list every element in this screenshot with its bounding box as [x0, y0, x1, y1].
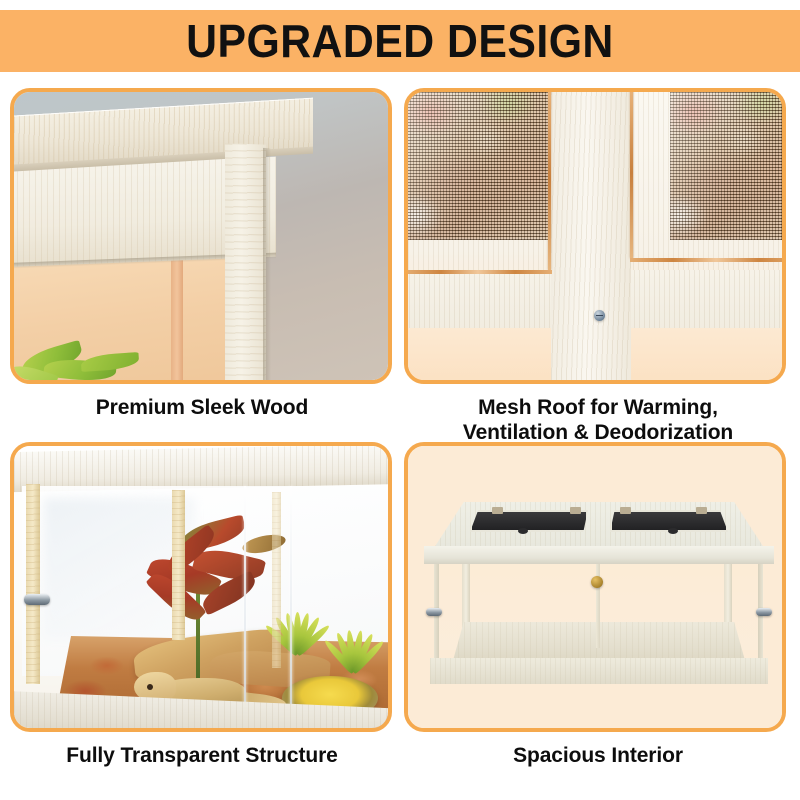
hinge-icon: [620, 507, 631, 514]
wood-corner-post: [172, 490, 185, 640]
infographic-page: UPGRADED DESIGN: [0, 0, 800, 800]
mesh-frame-edge-horizontal: [408, 270, 552, 274]
mesh-frame-edge-horizontal: [630, 258, 782, 262]
side-handle-right: [756, 608, 772, 616]
mesh-screen-right: [670, 92, 782, 240]
roof-knob-icon: [668, 528, 678, 534]
wood-back-post: [272, 492, 281, 668]
wood-corner-post-shadow: [263, 148, 271, 380]
mesh-screen-left: [408, 92, 548, 240]
panel-caption-spacious-interior: Spacious Interior: [402, 744, 794, 769]
hinge-icon: [570, 507, 581, 514]
photo-frame-mesh-roof[interactable]: [404, 88, 786, 384]
product-photo-fully-transparent-structure: [14, 446, 388, 728]
dragon-eye: [147, 684, 153, 690]
succulent-plant-decor: [320, 614, 388, 676]
hinge-icon: [492, 507, 503, 514]
product-photo-premium-sleek-wood: [14, 92, 388, 380]
screw-icon: [594, 310, 605, 321]
page-title: UPGRADED DESIGN: [186, 18, 614, 64]
photo-frame-spacious-interior[interactable]: [404, 442, 786, 732]
caption-line: Mesh Roof for Warming,: [402, 396, 794, 421]
caption-line: Fully Transparent Structure: [6, 744, 398, 769]
inner-wood-strut: [171, 260, 183, 380]
feature-grid: Premium Sleek Wood: [0, 84, 800, 800]
glass-door-edge: [290, 486, 292, 728]
brass-latch-icon: [591, 576, 603, 588]
photo-frame-premium-sleek-wood[interactable]: [10, 88, 392, 384]
panel-caption-mesh-roof: Mesh Roof for Warming, Ventilation & Deo…: [402, 396, 794, 446]
photo-frame-fully-transparent-structure[interactable]: [10, 442, 392, 732]
mesh-frame-edge-vertical: [548, 92, 551, 270]
mesh-frame-edge-vertical: [630, 92, 633, 258]
feature-panel-mesh-roof: Mesh Roof for Warming, Ventilation & Deo…: [402, 88, 794, 446]
roof-front-lip: [424, 546, 774, 564]
panel-caption-premium-sleek-wood: Premium Sleek Wood: [6, 396, 398, 421]
wood-door-post-left: [26, 484, 40, 684]
side-handle-left: [426, 608, 442, 616]
feature-panel-fully-transparent-structure: Fully Transparent Structure: [6, 442, 398, 769]
header-banner: UPGRADED DESIGN: [0, 10, 800, 72]
glass-door-edge: [244, 486, 246, 728]
mesh-sheen: [670, 92, 782, 240]
feature-panel-premium-sleek-wood: Premium Sleek Wood: [6, 88, 398, 421]
caption-line: Spacious Interior: [402, 744, 794, 769]
door-handle: [24, 594, 50, 605]
hinge-icon: [696, 507, 707, 514]
mesh-sheen: [408, 92, 548, 240]
terrarium-unit: [424, 502, 774, 688]
feature-panel-spacious-interior: Spacious Interior: [402, 442, 794, 769]
product-photo-mesh-roof: [408, 92, 782, 380]
base-rail: [430, 658, 768, 684]
roof-knob-icon: [518, 528, 528, 534]
caption-line: Premium Sleek Wood: [6, 396, 398, 421]
product-photo-spacious-interior: [408, 446, 782, 728]
panel-caption-fully-transparent-structure: Fully Transparent Structure: [6, 744, 398, 769]
wood-corner-post: [225, 143, 266, 380]
wood-center-rail: [551, 92, 631, 380]
